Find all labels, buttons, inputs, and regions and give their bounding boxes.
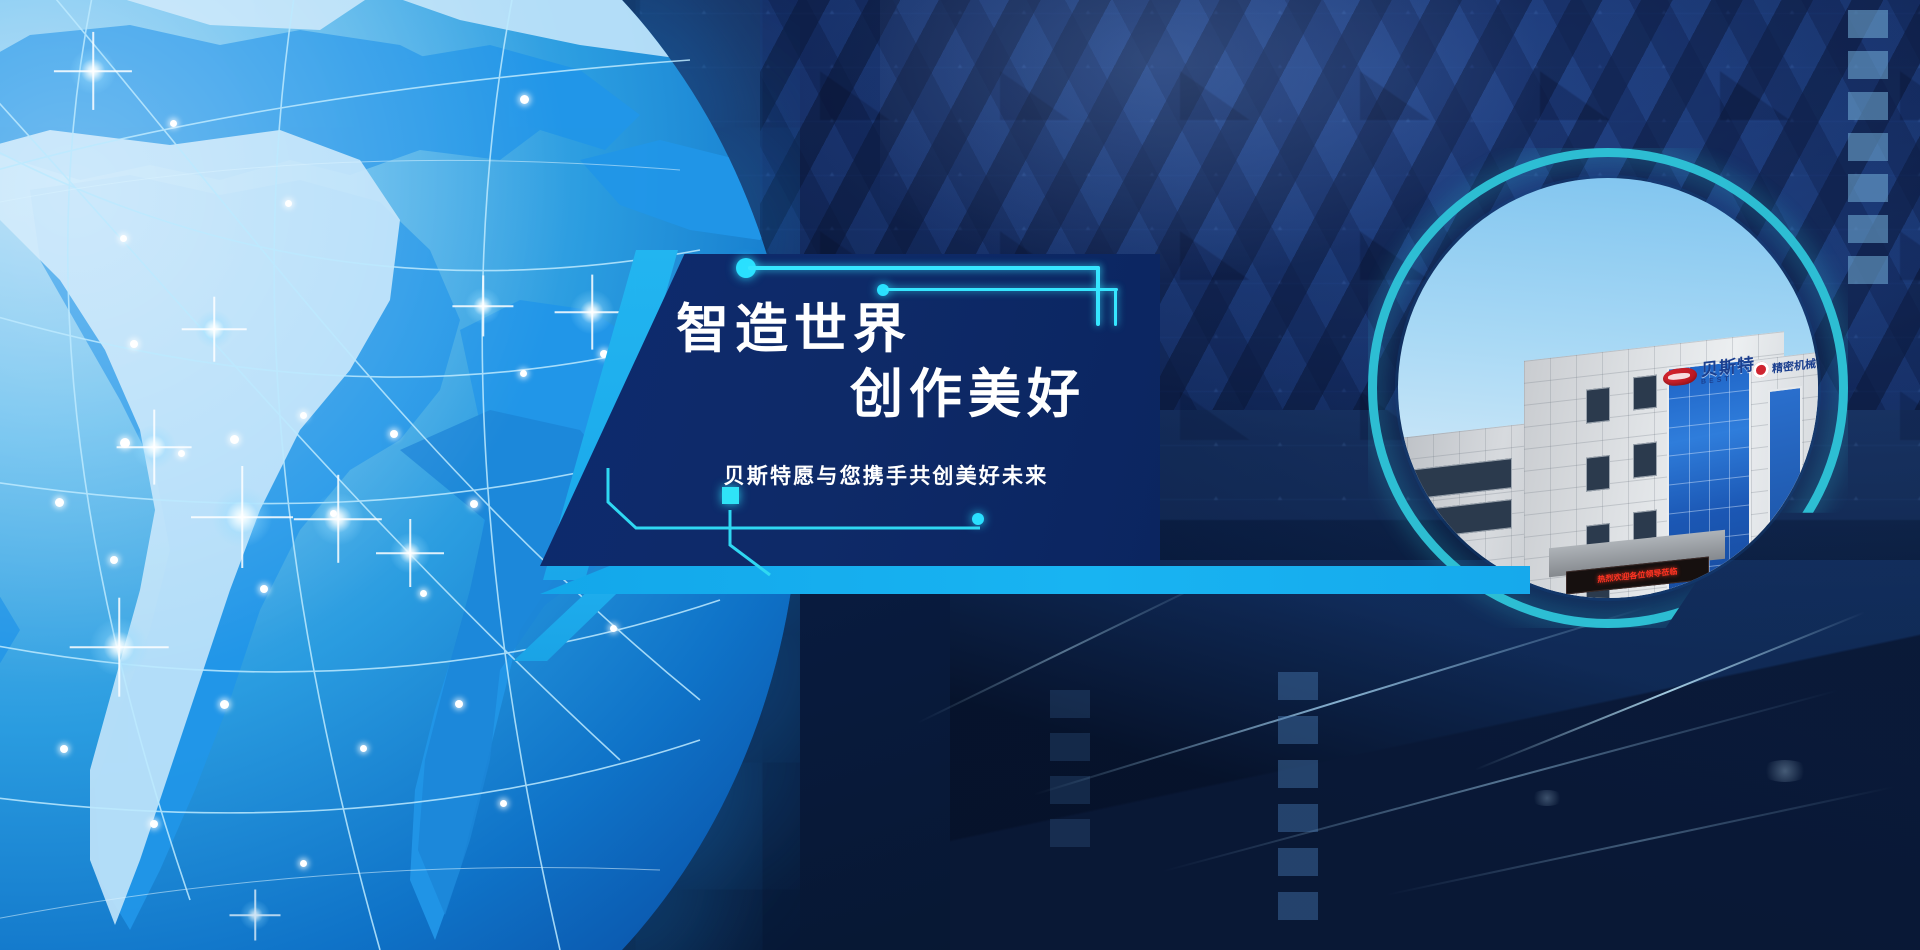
light-flare	[312, 493, 364, 545]
network-node	[55, 498, 64, 507]
network-node	[120, 438, 130, 448]
network-node	[260, 585, 268, 593]
network-node	[300, 412, 307, 419]
network-node	[300, 860, 307, 867]
led-banner-text: 热烈欢迎各位领导莅临	[1597, 566, 1677, 585]
company-building-photo: 贝斯特 BEST 精密机械 热烈欢迎各位领导莅临	[1398, 178, 1818, 598]
network-node	[520, 370, 527, 377]
network-node	[150, 820, 158, 828]
light-glow	[1760, 760, 1810, 782]
network-node	[120, 235, 127, 242]
network-node	[130, 340, 138, 348]
tech-line-vertical	[1114, 288, 1117, 326]
tech-line-horizontal	[748, 266, 1100, 270]
dash-ladder-center	[1278, 672, 1318, 920]
building-glass-side	[1768, 386, 1802, 583]
light-flare	[240, 900, 270, 930]
network-node	[610, 625, 617, 632]
light-glow	[1530, 790, 1564, 806]
network-node	[178, 450, 185, 457]
light-flare	[195, 310, 233, 348]
light-flare	[570, 290, 614, 334]
banner-stage: 贝斯特 BEST 精密机械 热烈欢迎各位领导莅临	[0, 0, 1920, 950]
headline-line-1: 智造世界	[676, 300, 1096, 359]
dash-ladder-lower	[1050, 690, 1090, 847]
dash-ladder-right	[1848, 10, 1888, 284]
network-node	[390, 430, 398, 438]
light-flare	[70, 48, 116, 94]
network-node	[60, 745, 68, 753]
network-node	[455, 700, 463, 708]
dark-pane-texture	[950, 560, 1920, 950]
light-flare	[212, 487, 272, 547]
brand-logo-icon	[1663, 366, 1697, 387]
network-node	[500, 800, 507, 807]
network-node	[420, 590, 427, 597]
light-flare	[390, 533, 430, 573]
network-node	[230, 435, 239, 444]
headline-line-2: 创作美好	[676, 365, 1096, 424]
light-flare	[90, 618, 148, 676]
network-node	[470, 500, 478, 508]
light-flare	[465, 288, 501, 324]
building-photo-ring: 贝斯特 BEST 精密机械 热烈欢迎各位领导莅临	[1398, 178, 1818, 598]
network-node	[330, 510, 337, 517]
tech-dot	[972, 513, 984, 525]
network-node	[220, 700, 229, 709]
subtitle-text: 贝斯特愿与您携手共创美好未来	[676, 460, 1096, 490]
network-node	[520, 95, 529, 104]
headline-block: 智造世界 创作美好	[676, 300, 1096, 425]
tech-line-vertical	[1096, 266, 1100, 326]
light-flare	[132, 425, 176, 469]
tech-line-horizontal	[886, 288, 1118, 291]
secondary-logo-icon	[1753, 360, 1769, 378]
network-node	[170, 120, 177, 127]
network-node	[285, 200, 292, 207]
network-node	[360, 745, 367, 752]
network-node	[110, 556, 118, 564]
